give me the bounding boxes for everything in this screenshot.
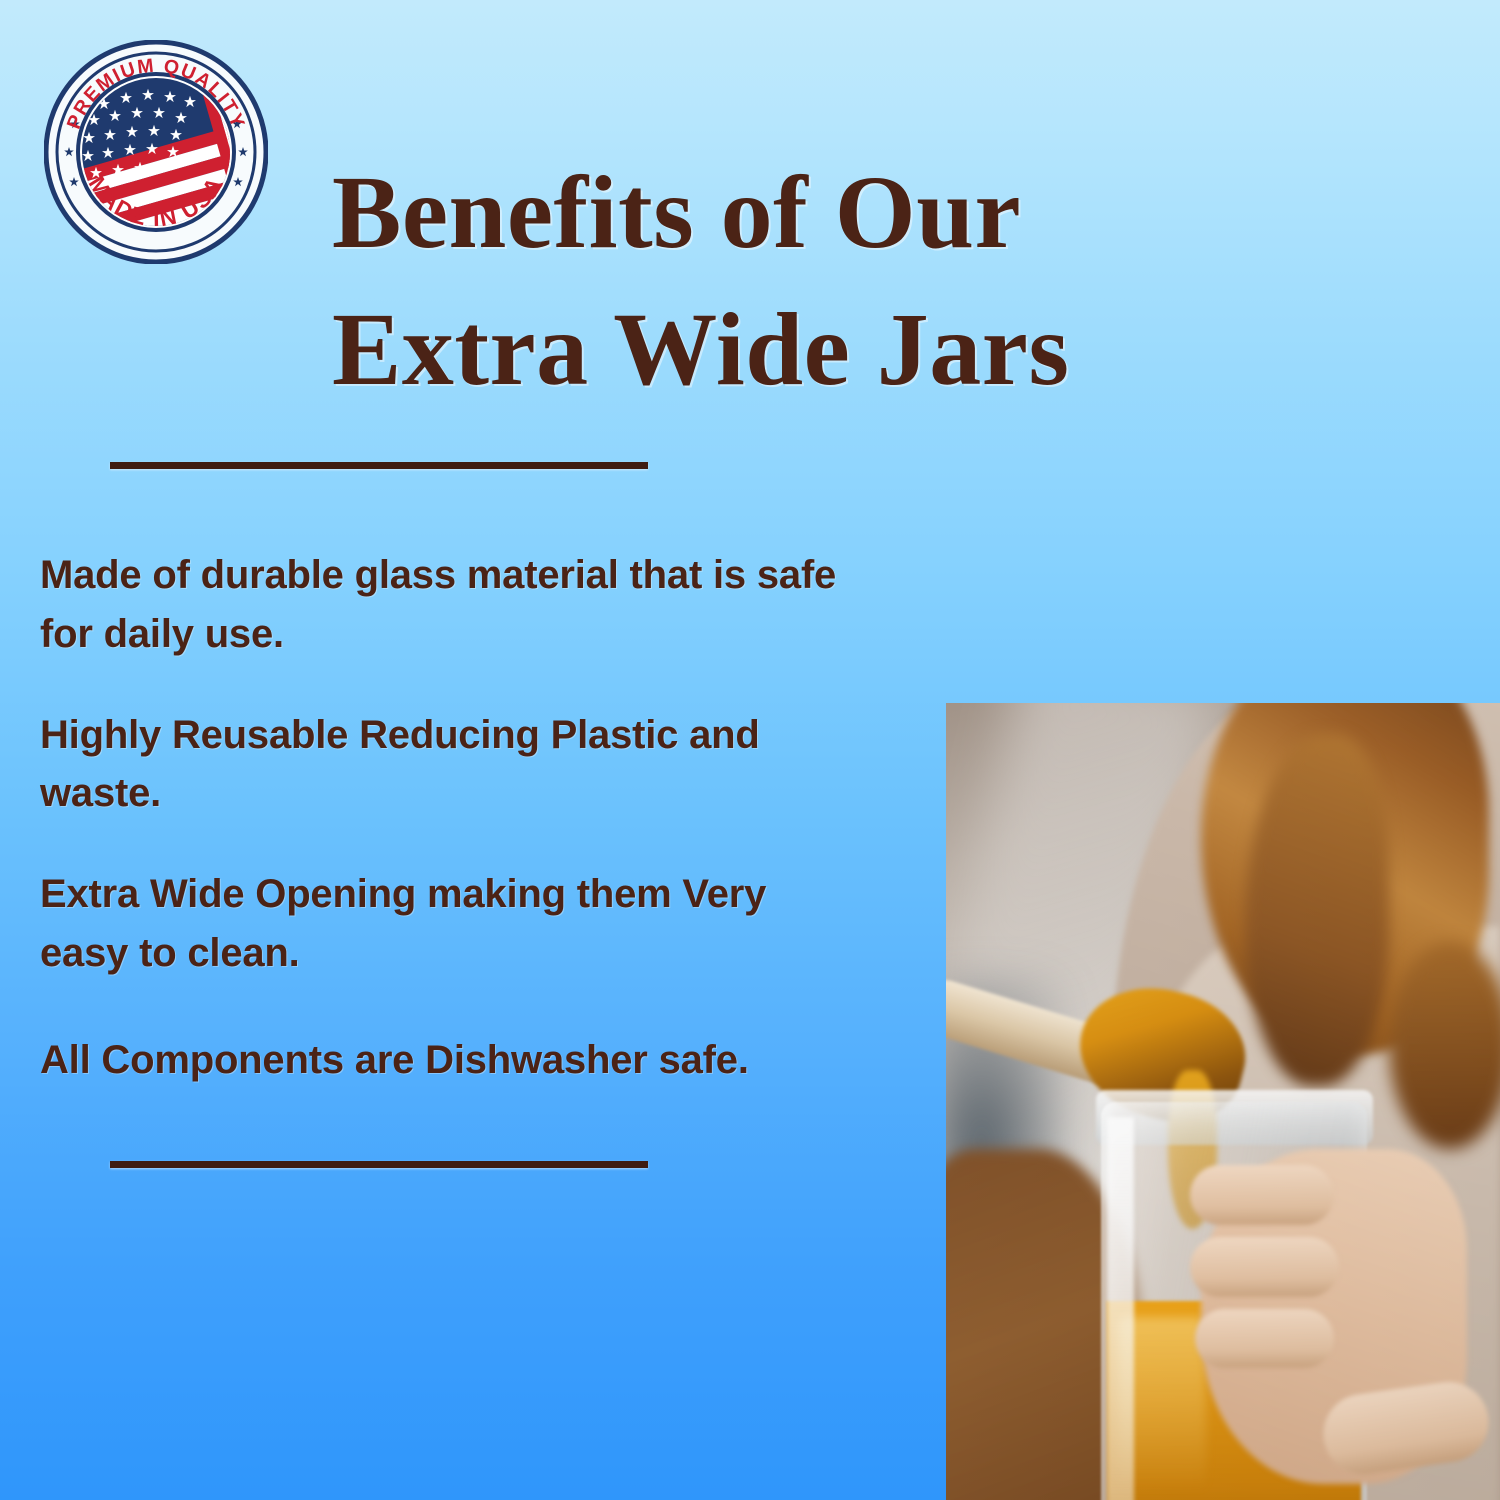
benefit-item-4: All Components are Dishwasher safe. (40, 1031, 940, 1090)
benefit-item-1: Made of durable glass material that is s… (40, 546, 940, 664)
photo-finger-3 (1195, 1309, 1334, 1369)
benefit-item-2: Highly Reusable Reducing Plastic and was… (40, 706, 940, 824)
photo-scene (946, 703, 1500, 1500)
product-lifestyle-photo (946, 703, 1500, 1500)
benefit-item-3: Extra Wide Opening making them Very easy… (40, 865, 940, 983)
made-in-usa-badge-icon: PREMIUM QUALITY MADE IN USA (44, 40, 268, 264)
divider-bottom (110, 1161, 648, 1168)
photo-finger-2 (1190, 1237, 1340, 1297)
page-title-line-1: Benefits of Our (332, 144, 1452, 281)
page-title: Benefits of Our Extra Wide Jars (332, 144, 1452, 419)
page-title-line-2: Extra Wide Jars (332, 281, 1452, 418)
photo-finger-1 (1190, 1165, 1334, 1225)
benefits-list: Made of durable glass material that is s… (40, 546, 940, 1090)
divider-top (110, 462, 648, 469)
infographic-canvas: PREMIUM QUALITY MADE IN USA Benefits of … (0, 0, 1500, 1500)
photo-jar-glass-highlight (1107, 1117, 1135, 1500)
photo-person-hair-lower (1389, 942, 1500, 1149)
